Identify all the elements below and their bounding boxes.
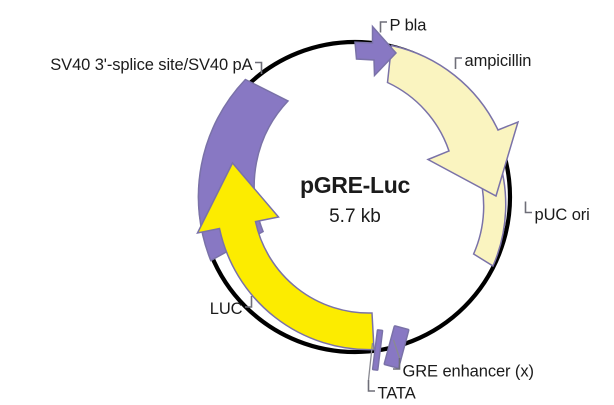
- ampicillin-leader: [456, 58, 463, 69]
- label-sv40: SV40 3'-splice site/SV40 pA: [50, 56, 252, 74]
- label-tata: TATA: [378, 385, 416, 403]
- plasmid-diagram-canvas: P bla ampicillin pUC ori SV40 3'-splice …: [0, 0, 614, 405]
- plasmid-map-figure: P bla ampicillin pUC ori SV40 3'-splice …: [0, 0, 614, 405]
- plasmid-name: pGRE-Luc: [300, 172, 411, 198]
- plasmid-size: 5.7 kb: [329, 206, 381, 227]
- label-luc: LUC: [210, 300, 243, 318]
- label-p-bla: P bla: [390, 17, 428, 35]
- p-bla-leader: [381, 22, 388, 33]
- label-gre-enhancer: GRE enhancer (x): [403, 363, 534, 381]
- puc-ori-leader: [526, 202, 533, 213]
- label-ampicillin: ampicillin: [465, 52, 532, 70]
- tata-leader: [369, 380, 376, 391]
- label-puc-ori: pUC ori: [535, 206, 590, 224]
